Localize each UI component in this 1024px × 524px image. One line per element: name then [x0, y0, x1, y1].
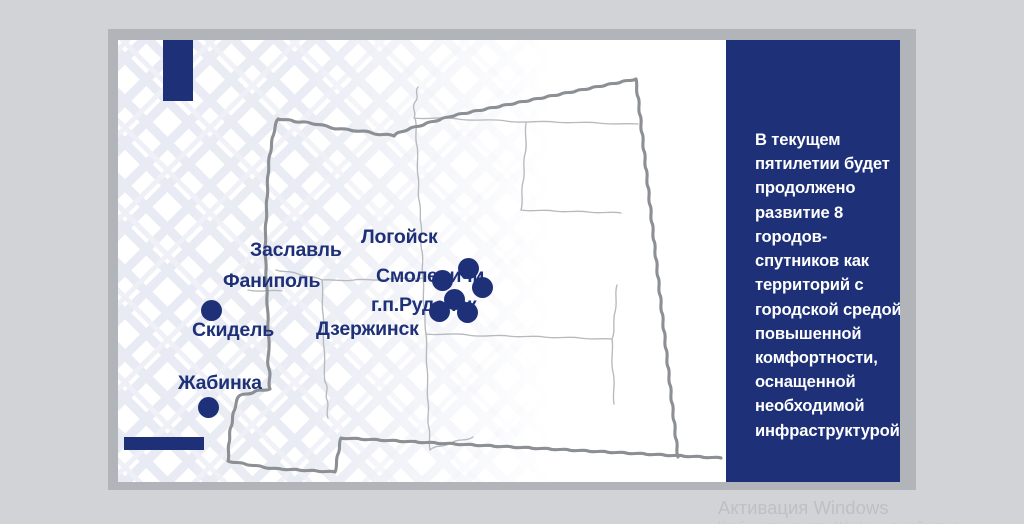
screen: Логойск Заславль Смолевичи Фаниполь г.п.…: [0, 0, 1024, 524]
city-label-smolevichi: Смолевичи: [376, 267, 484, 287]
windows-activation-watermark: Активация Windows Чтобы активировать Win…: [718, 497, 1018, 524]
panel-body-text: В текущем пятилетии будет продолжено раз…: [755, 128, 900, 443]
city-label-zaslavl: Заславль: [250, 241, 342, 261]
city-dot-dzerzhinsk[interactable]: [429, 301, 450, 322]
city-label-rudensk: г.п.Руденск: [371, 296, 477, 316]
city-label-skidel: Скидель: [192, 321, 274, 341]
slide-frame: Логойск Заславль Смолевичи Фаниполь г.п.…: [108, 29, 916, 490]
watermark-subtitle: Чтобы активировать Windows, перейдите в: [718, 519, 1018, 524]
city-label-logoysk: Логойск: [361, 228, 438, 248]
city-dot-skidel[interactable]: [201, 300, 222, 321]
text-panel: В текущем пятилетии будет продолжено раз…: [726, 40, 900, 482]
city-label-zhabinka: Жабинка: [178, 374, 262, 394]
city-label-fanipol: Фаниполь: [223, 272, 320, 292]
city-dot-zhabinka[interactable]: [198, 397, 219, 418]
slide-canvas: Логойск Заславль Смолевичи Фаниполь г.п.…: [118, 40, 900, 482]
city-label-dzerzhinsk: Дзержинск: [316, 320, 419, 340]
watermark-title: Активация Windows: [718, 497, 1018, 518]
map-area: Логойск Заславль Смолевичи Фаниполь г.п.…: [118, 40, 726, 482]
